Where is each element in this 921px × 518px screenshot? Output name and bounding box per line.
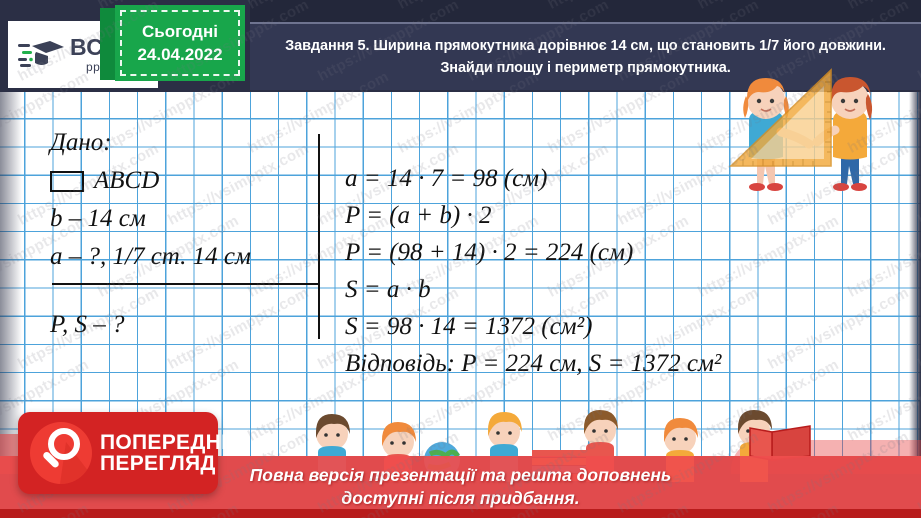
step-line: P = (98 + 14) · 2 = 224 (см) <box>345 234 721 271</box>
header-top-strip <box>250 0 921 22</box>
banner-line-2: доступні після придбання. <box>341 487 579 510</box>
column-vertical-rule <box>318 134 320 339</box>
given-item-a: a – ?, 1/7 ст. 14 см <box>50 238 320 276</box>
given-heading: Дано: <box>50 124 320 162</box>
step-line: S = 98 · 14 = 1372 (см²) <box>345 308 721 345</box>
step-line: S = a · b <box>345 271 721 308</box>
magnifier-icon <box>30 422 92 484</box>
graduation-cap-icon <box>18 38 64 72</box>
given-horizontal-rule <box>52 283 320 285</box>
date-badge: Сьогодні 24.04.2022 <box>115 5 245 81</box>
given-item-b: b – 14 см <box>50 200 320 238</box>
preview-line-2: ПЕРЕГЛЯД <box>100 453 243 474</box>
given-abcd-label: ABCD <box>94 162 159 200</box>
step-line: a = 14 · 7 = 98 (см) <box>345 160 721 197</box>
date-badge-value: 24.04.2022 <box>137 45 222 65</box>
rectangle-icon <box>50 171 84 192</box>
preview-badge-text: ПОПЕРЕДНІЙ ПЕРЕГЛЯД <box>100 432 243 475</box>
banner-line-1: Повна версія презентації та решта доповн… <box>250 464 672 487</box>
date-badge-label: Сьогодні <box>142 22 218 42</box>
steps-column: a = 14 · 7 = 98 (см) P = (a + b) · 2 P =… <box>345 160 721 382</box>
illustration-kids-set-square <box>713 62 903 207</box>
answer-line: Відповідь: P = 224 см, S = 1372 см² <box>345 345 721 382</box>
slide-root: Дано: ABCD b – 14 см a – ?, 1/7 ст. 14 с… <box>0 0 921 518</box>
bottom-banner-strip <box>0 509 921 518</box>
preview-badge[interactable]: ПОПЕРЕДНІЙ ПЕРЕГЛЯД <box>18 412 218 494</box>
given-column: Дано: ABCD b – 14 см a – ?, 1/7 ст. 14 с… <box>50 124 320 344</box>
find-label: P, S – ? <box>50 306 320 344</box>
preview-line-1: ПОПЕРЕДНІЙ <box>100 432 243 453</box>
step-line: P = (a + b) · 2 <box>345 197 721 234</box>
given-item-abcd: ABCD <box>50 162 320 200</box>
